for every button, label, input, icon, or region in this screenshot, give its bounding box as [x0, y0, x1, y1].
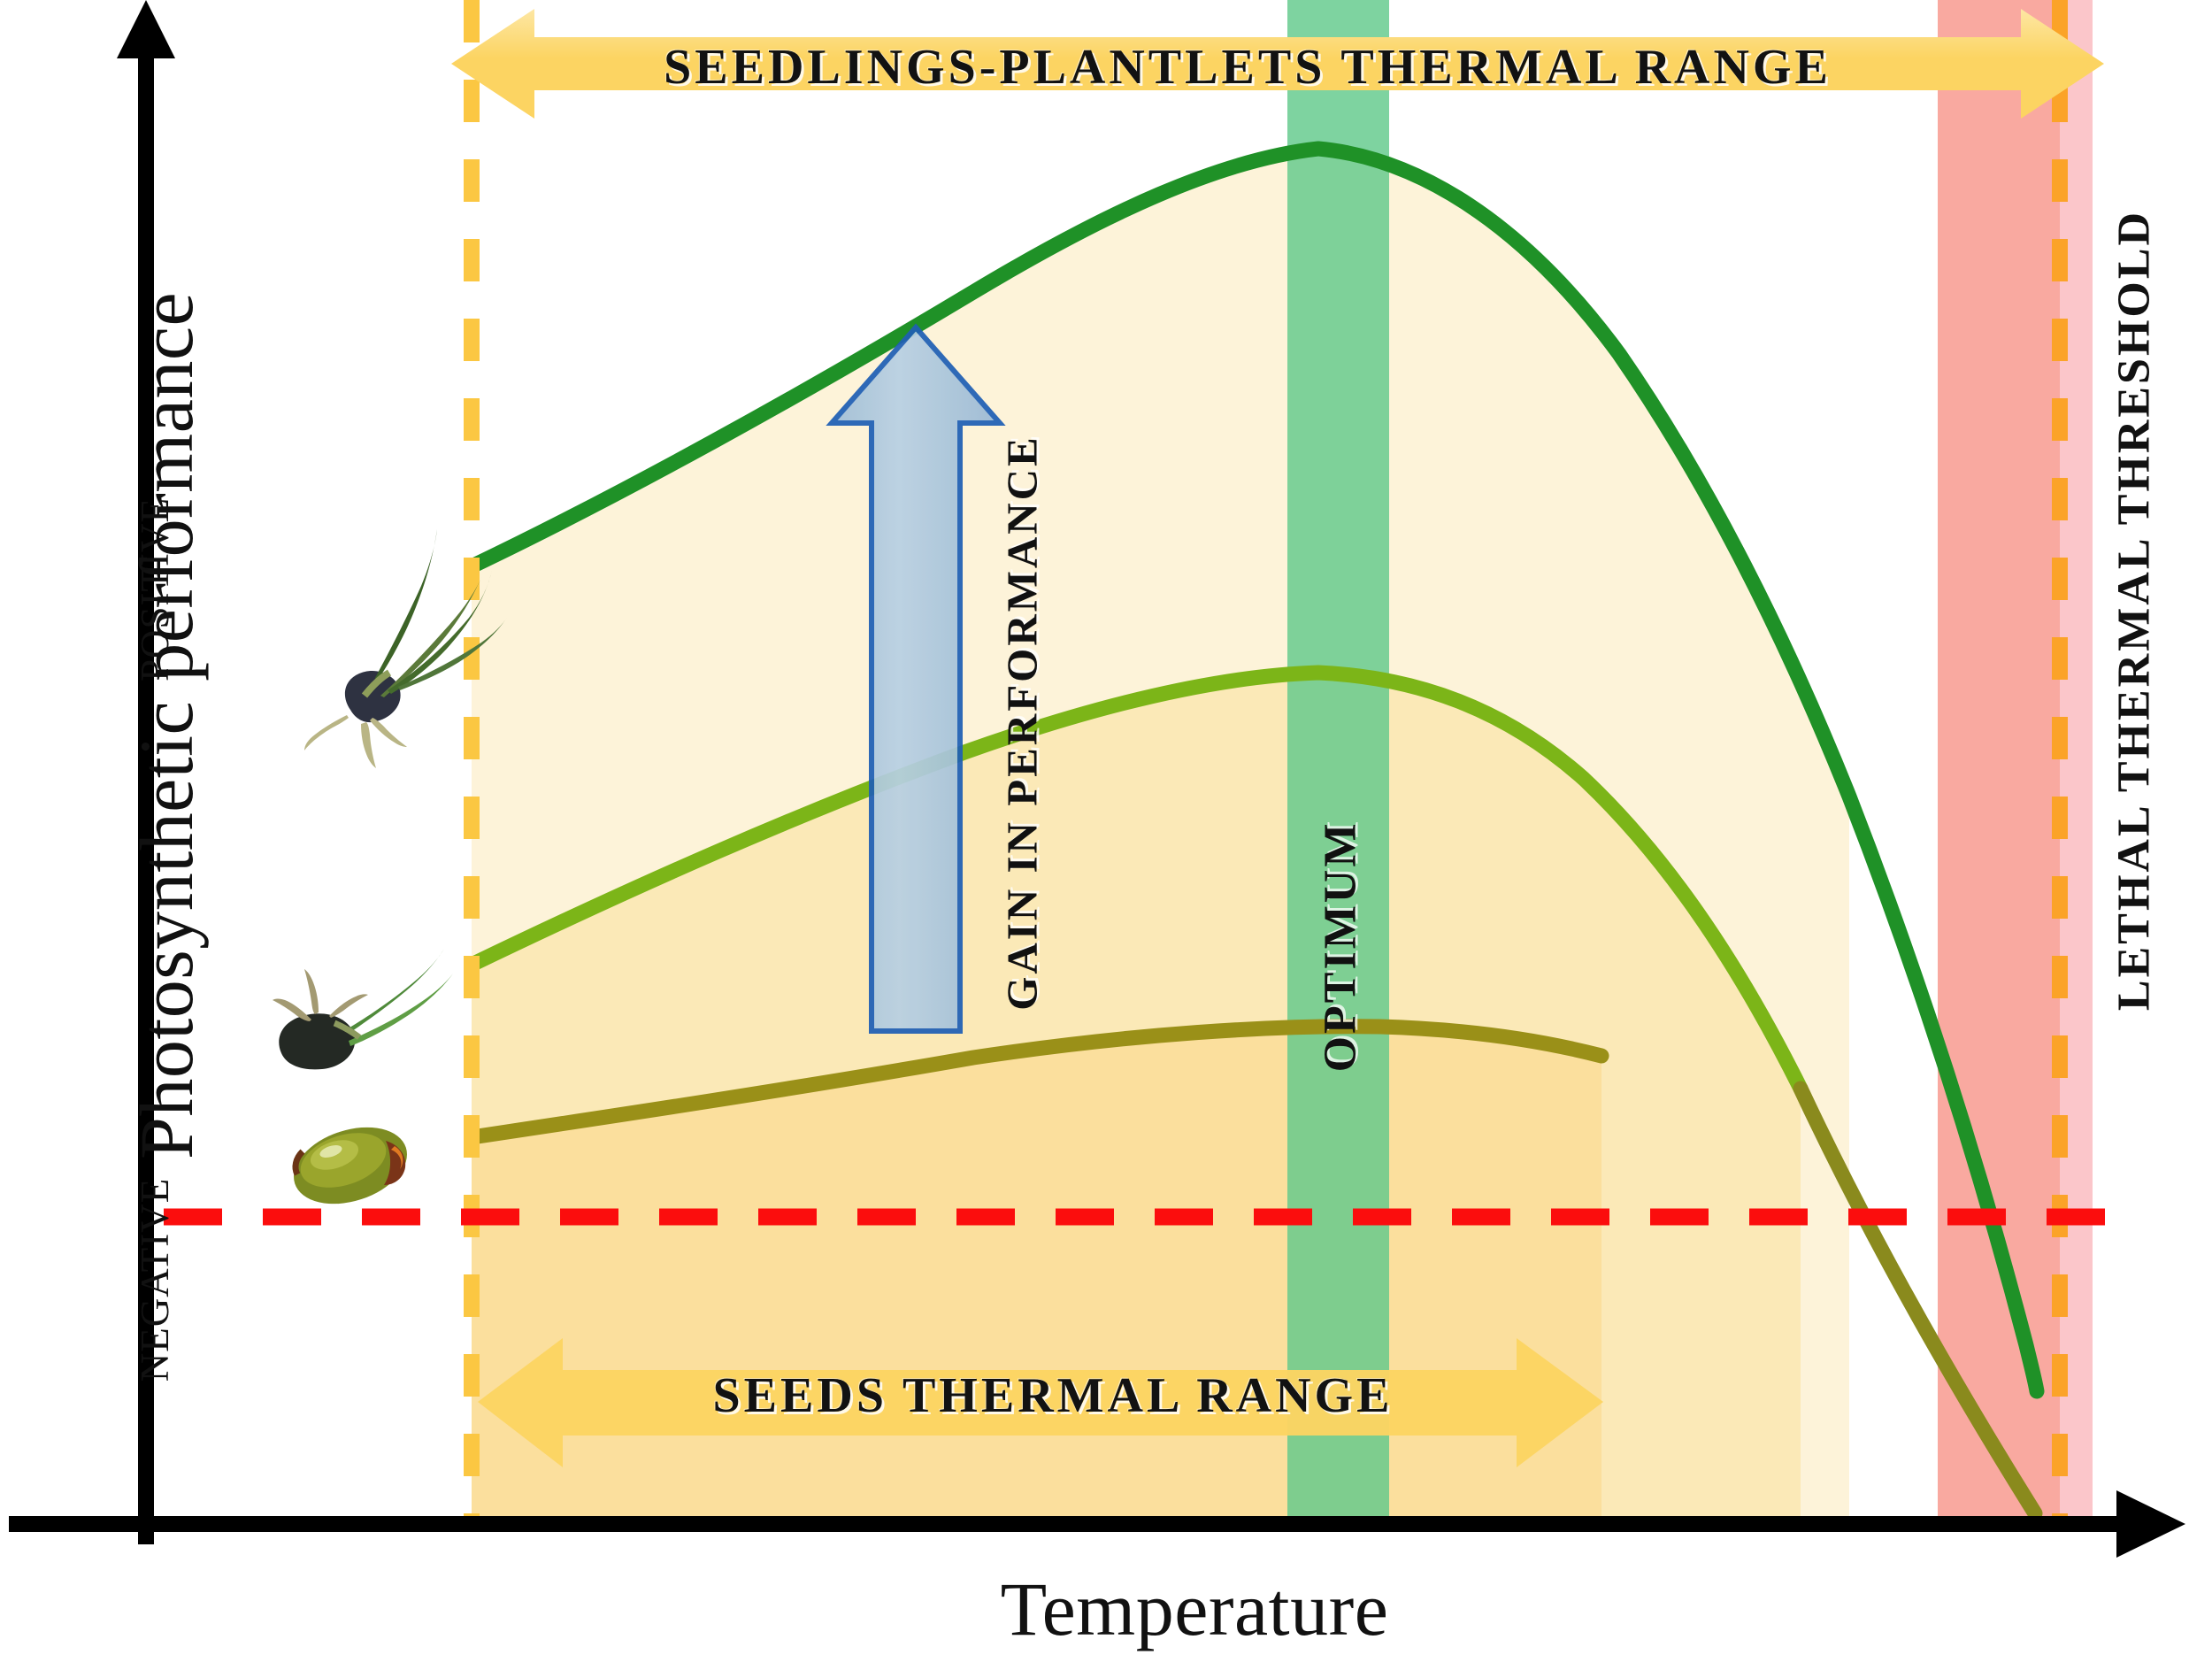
optimum-label: OPTIMUM [1315, 690, 1367, 1204]
y-axis-positive-label: POSITIVE [132, 452, 178, 727]
x-axis-title: Temperature [885, 1565, 1504, 1653]
lethal-band-inner [1938, 0, 2060, 1522]
seeds-thermal-range-label: SEEDS THERMAL RANGE [531, 1367, 1575, 1424]
thermal-performance-figure: Photosynthetic performance POSITIVE NEGA… [0, 0, 2212, 1678]
plot-canvas [0, 0, 2212, 1678]
x-axis-arrowhead [2116, 1490, 2185, 1558]
y-axis-negative-label: NEGATIVE [132, 1134, 178, 1426]
gain-in-performance-label: GAIN IN PERFORMANCE [997, 404, 1048, 1042]
specimen-seed [284, 1114, 417, 1218]
y-axis-arrowhead [117, 0, 175, 58]
specimen-seedling [273, 949, 453, 1069]
lethal-thermal-threshold-label: LETHAL THERMAL THRESHOLD [2108, 168, 2161, 1053]
seedlings-thermal-range-label: SEEDLINGS-PLANTLETS THERMAL RANGE [549, 39, 1947, 96]
